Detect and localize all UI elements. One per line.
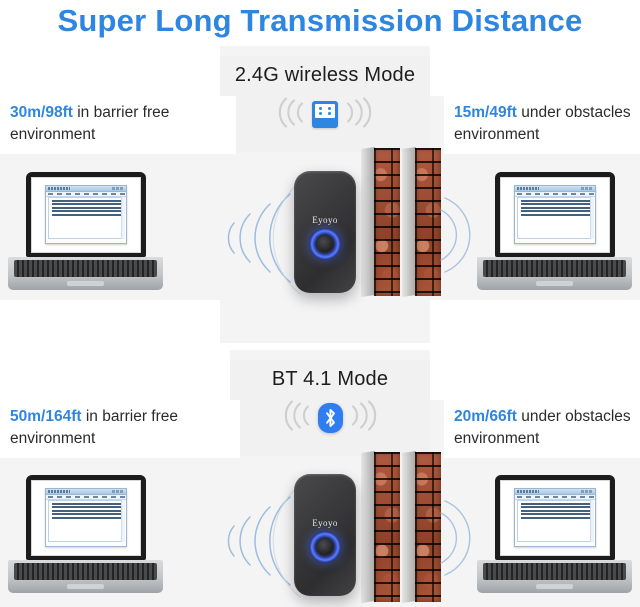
bluetooth-icon (318, 403, 343, 433)
notch-bottom-left (0, 300, 220, 343)
scan-app-window (514, 185, 596, 244)
laptop-base (8, 257, 163, 290)
wall-shadow (402, 451, 416, 603)
wall-bricks (415, 452, 441, 602)
app-title-bar (515, 489, 595, 495)
barcode-scanner-bluetooth: Eyoyo (294, 474, 356, 596)
caption-wireless-obstacles: 15m/49ft under obstacles environment (444, 96, 640, 154)
laptop-screen (31, 177, 141, 253)
app-text-area (517, 197, 593, 239)
device-brand-label: Eyoyo (294, 518, 356, 528)
laptop-base (8, 560, 163, 593)
app-text-area (48, 197, 124, 239)
wall-shadow (361, 451, 375, 603)
laptop-base (477, 560, 632, 593)
distance-value-30m: 30m/98ft (10, 104, 73, 121)
page-title: Super Long Transmission Distance (0, 0, 640, 42)
infographic-stage: Super Long Transmission Distance 2.4G wi… (0, 0, 640, 607)
app-text-area (48, 500, 124, 542)
brick-wall-2-bluetooth (415, 452, 441, 602)
signal-arcs-left-wireless (150, 178, 300, 298)
laptop-lid (26, 475, 146, 560)
laptop-keyboard (483, 260, 626, 277)
app-title-bar (46, 489, 126, 495)
wall-bricks (415, 148, 441, 296)
laptop-trackpad (536, 281, 573, 286)
mode-box-bluetooth: BT 4.1 Mode (230, 360, 430, 456)
scan-app-window (45, 488, 127, 547)
brick-wall-2-wireless (415, 148, 441, 296)
scan-app-window (45, 185, 127, 244)
laptop-right-wireless (477, 172, 632, 292)
notch-top-right (430, 46, 640, 96)
signal-arcs-left-bluetooth (150, 481, 300, 601)
laptop-screen (500, 177, 610, 253)
laptop-screen (500, 480, 610, 556)
laptop-trackpad (67, 281, 104, 286)
scanner-led-ring (309, 531, 341, 563)
mode-box-wireless: 2.4G wireless Mode (220, 56, 430, 152)
distance-value-15m: 15m/49ft (454, 104, 517, 121)
wall-shadow (402, 147, 416, 297)
app-scrollbar (121, 500, 125, 542)
usb-arcs-right-icon (344, 97, 378, 132)
laptop-trackpad (536, 584, 573, 589)
caption-wireless-barrier-free: 30m/98ft in barrier free environment (0, 96, 236, 154)
scan-app-window (514, 488, 596, 547)
bt-arcs-right-icon (349, 401, 383, 436)
laptop-keyboard (14, 563, 157, 580)
wall-bricks (374, 148, 400, 296)
laptop-lid (495, 475, 615, 560)
wall-shadow (361, 147, 375, 297)
app-title-bar (515, 186, 595, 192)
laptop-lid (26, 172, 146, 257)
caption-bluetooth-barrier-free: 50m/164ft in barrier free environment (0, 400, 240, 458)
mode-title-bluetooth: BT 4.1 Mode (272, 368, 388, 391)
app-scrollbar (590, 500, 594, 542)
laptop-trackpad (67, 584, 104, 589)
app-text-area (517, 500, 593, 542)
device-brand-label: Eyoyo (294, 215, 356, 225)
laptop-keyboard (483, 563, 626, 580)
laptop-left-wireless (8, 172, 163, 292)
notch-bottom-right (430, 300, 640, 343)
laptop-left-bluetooth (8, 475, 163, 595)
app-scrollbar (590, 197, 594, 239)
mode-title-wireless: 2.4G wireless Mode (235, 64, 415, 87)
panel-gap (0, 343, 640, 350)
app-title-bar (46, 186, 126, 192)
notch-bt-top-left (0, 350, 230, 400)
distance-value-50m: 50m/164ft (10, 408, 82, 425)
laptop-base (477, 257, 632, 290)
scanner-led-ring (309, 228, 341, 260)
notch-bt-top-right (430, 350, 640, 400)
brick-wall-1-wireless (374, 148, 400, 296)
laptop-right-bluetooth (477, 475, 632, 595)
usb-dongle-face (315, 104, 335, 118)
laptop-screen (31, 480, 141, 556)
usb-arcs-left-icon (272, 97, 306, 132)
bluetooth-icon-group (318, 403, 343, 433)
laptop-keyboard (14, 260, 157, 277)
caption-bluetooth-obstacles: 20m/66ft under obstacles environment (444, 400, 640, 458)
distance-value-20m: 20m/66ft (454, 408, 517, 425)
brick-wall-1-bluetooth (374, 452, 400, 602)
wall-bricks (374, 452, 400, 602)
laptop-lid (495, 172, 615, 257)
bt-arcs-left-icon (278, 401, 312, 436)
barcode-scanner-wireless: Eyoyo (294, 171, 356, 293)
app-scrollbar (121, 197, 125, 239)
notch-top-left (0, 46, 220, 96)
usb-dongle-icon (312, 101, 338, 128)
wireless-icon-group (312, 101, 338, 128)
